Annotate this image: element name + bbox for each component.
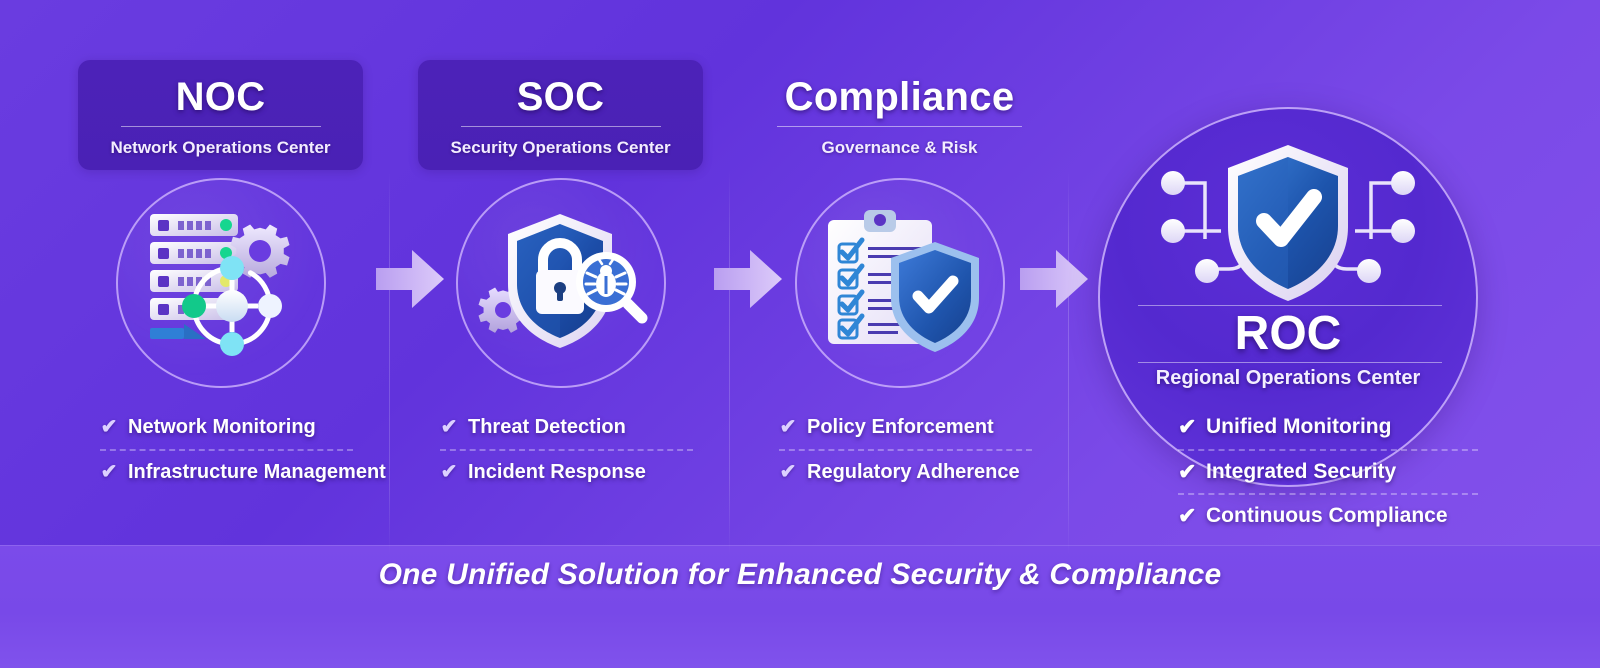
feature-label: Policy Enforcement — [807, 416, 994, 439]
soc-feature-list: ✔ Threat Detection ✔ Incident Response — [440, 405, 693, 493]
noc-header-card: NOC Network Operations Center — [78, 60, 363, 170]
soc-icon-circle — [456, 178, 666, 388]
roc-rule-bottom — [1138, 362, 1442, 363]
feature-label: Network Monitoring — [128, 416, 316, 439]
feature-label: Threat Detection — [468, 416, 626, 439]
noc-icon-circle — [116, 178, 326, 388]
list-item[interactable]: ✔ Policy Enforcement — [779, 405, 1032, 449]
infographic-canvas: NOC Network Operations Center — [0, 0, 1600, 668]
roc-feature-list: ✔ Unified Monitoring ✔ Integrated Securi… — [1178, 405, 1478, 537]
check-icon: ✔ — [1178, 505, 1196, 527]
server-rack-network-icon — [136, 206, 306, 361]
check-icon: ✔ — [100, 417, 118, 437]
check-icon: ✔ — [1178, 461, 1196, 483]
column-compliance[interactable]: Compliance Governance & Risk — [757, 60, 1042, 530]
list-item[interactable]: ✔ Threat Detection — [440, 405, 693, 449]
roc-title: ROC — [1100, 307, 1476, 361]
feature-label: Infrastructure Management — [128, 461, 386, 484]
shield-check-network-icon — [1153, 143, 1423, 303]
list-item[interactable]: ✔ Incident Response — [440, 449, 693, 493]
roc-rule-top — [1138, 305, 1442, 306]
column-divider — [1068, 170, 1069, 555]
column-soc[interactable]: SOC Security Operations Center — [418, 60, 703, 530]
compliance-subtitle: Governance & Risk — [757, 138, 1042, 158]
column-divider — [729, 170, 730, 555]
check-icon: ✔ — [440, 417, 458, 437]
feature-label: Unified Monitoring — [1206, 415, 1391, 439]
check-icon: ✔ — [440, 462, 458, 482]
shield-lock-bug-scan-icon — [473, 206, 648, 361]
feature-label: Regulatory Adherence — [807, 461, 1020, 484]
compliance-title: Compliance — [757, 74, 1042, 120]
tagline: One Unified Solution for Enhanced Securi… — [0, 558, 1600, 592]
column-divider — [389, 170, 390, 555]
check-icon: ✔ — [779, 417, 797, 437]
soc-title: SOC — [418, 74, 703, 120]
noc-feature-list: ✔ Network Monitoring ✔ Infrastructure Ma… — [100, 405, 353, 493]
check-icon: ✔ — [100, 462, 118, 482]
noc-title: NOC — [78, 74, 363, 120]
feature-label: Incident Response — [468, 461, 646, 484]
compliance-feature-list: ✔ Policy Enforcement ✔ Regulatory Adhere… — [779, 405, 1032, 493]
list-item[interactable]: ✔ Network Monitoring — [100, 405, 353, 449]
soc-subtitle: Security Operations Center — [418, 138, 703, 158]
list-item[interactable]: ✔ Continuous Compliance — [1178, 493, 1478, 537]
compliance-icon-circle — [795, 178, 1005, 388]
list-item[interactable]: ✔ Regulatory Adherence — [779, 449, 1032, 493]
compliance-header-card: Compliance Governance & Risk — [757, 60, 1042, 170]
compliance-title-rule — [777, 126, 1022, 127]
list-item[interactable]: ✔ Integrated Security — [1178, 449, 1478, 493]
column-noc[interactable]: NOC Network Operations Center — [78, 60, 363, 530]
list-item[interactable]: ✔ Unified Monitoring — [1178, 405, 1478, 449]
soc-header-card: SOC Security Operations Center — [418, 60, 703, 170]
flow-arrow-2 — [714, 248, 782, 310]
noc-subtitle: Network Operations Center — [78, 138, 363, 158]
soc-title-rule — [461, 126, 661, 127]
feature-label: Integrated Security — [1206, 460, 1396, 484]
check-icon: ✔ — [1178, 416, 1196, 438]
list-item[interactable]: ✔ Infrastructure Management — [100, 449, 353, 493]
roc-icon-wrap — [1153, 143, 1423, 308]
noc-title-rule — [121, 126, 321, 127]
flow-arrow-1 — [376, 248, 444, 310]
feature-label: Continuous Compliance — [1206, 504, 1448, 528]
flow-arrow-3 — [1020, 248, 1088, 310]
clipboard-checklist-shield-icon — [812, 206, 987, 361]
check-icon: ✔ — [779, 462, 797, 482]
roc-subtitle: Regional Operations Center — [1100, 367, 1476, 390]
